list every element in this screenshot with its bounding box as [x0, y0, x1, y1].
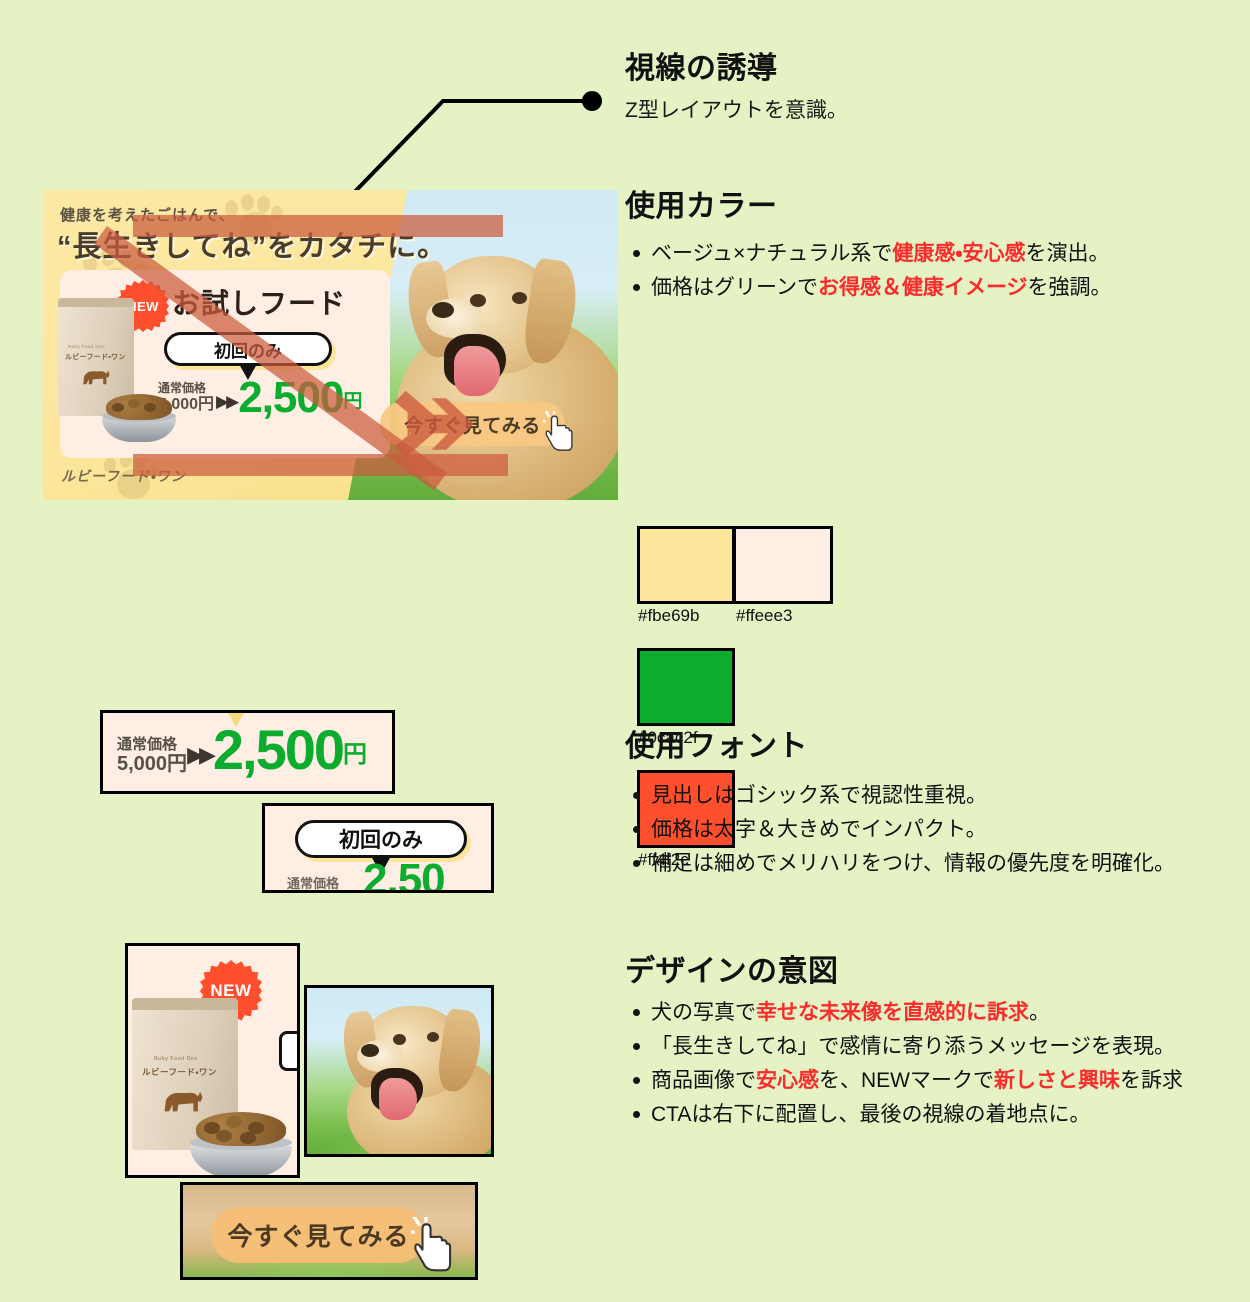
zoom-callout-price: 通常価格 5,000円 ▶▶ 2,500 円 [100, 710, 395, 794]
bag-label: ルビーフード・ワン [65, 352, 126, 362]
callout-clipped-price: 通常価格 2,50 [287, 868, 445, 892]
section-heading-gaze: 視線の誘導 [625, 52, 1225, 85]
pointer-cursor-icon [411, 1217, 457, 1273]
bag-label: ルビーフード・ワン [142, 1066, 217, 1078]
zoom-card-cta[interactable]: 今すぐ見てみる [180, 1182, 478, 1280]
section-intent: デザインの意図 犬の写真で幸せな未来像を直感的に訴求。 「長生きしてね」で感情に… [625, 955, 1250, 1132]
z-pattern-arrow-icon [391, 378, 483, 470]
callout-currency-yen: 円 [343, 734, 367, 775]
section-heading-colors: 使用カラー [625, 190, 1225, 223]
swatch-row-1: #fbe69b #ffeee3 [637, 526, 833, 626]
z-pattern-top-bar [133, 215, 503, 237]
list-item: 補足は細めでメリハリをつけ、情報の優先度を明確化。 [625, 847, 1225, 881]
page-root: 健康を考えたごはんで、 “長生きしてね”をカタチに。 NEW お試しフード 初回… [0, 0, 1250, 1302]
list-item: 「長生きしてね」で感情に寄り添うメッセージを表現。 [625, 1030, 1250, 1064]
list-item: 見出しはゴシック系で視認性重視。 [625, 779, 1225, 813]
cta-button[interactable]: 今すぐ見てみる [211, 1207, 426, 1263]
list-item: 犬の写真で幸せな未来像を直感的に訴求。 [625, 996, 1250, 1030]
zoom-callout-first-only: 初回のみ 通常価格 2,50 [262, 803, 494, 893]
pointer-cursor-icon [543, 411, 577, 452]
banner-offer-card: NEW お試しフード 初回のみ 通常価格 5,000円 ▶▶ 2,500 円 R… [60, 270, 390, 458]
section-gaze: 視線の誘導 Z型レイアウトを意識。 [625, 52, 1225, 125]
list-item: 商品画像で安心感を、NEWマークで新しさと興味を訴求 [625, 1064, 1250, 1098]
zoom-card-dog-photo [304, 985, 494, 1157]
arrow-right-icon: ▶▶ [214, 392, 238, 418]
section-fonts: 使用フォント 見出しはゴシック系で視認性重視。 価格は太字＆大きめでインパクト。… [625, 730, 1225, 881]
main-banner-ad[interactable]: 健康を考えたごはんで、 “長生きしてね”をカタチに。 NEW お試しフード 初回… [43, 190, 618, 500]
section-colors: 使用カラー ベージュ×ナチュラル系で健康感・安心感を演出。 価格はグリーンでお得… [625, 190, 1225, 305]
gaze-body: Z型レイアウトを意識。 [625, 97, 1225, 125]
list-item: CTAは右下に配置し、最後の視線の着地点に。 [625, 1098, 1250, 1132]
swatch-label: #ffeee3 [735, 606, 833, 626]
intent-bullet-list: 犬の写真で幸せな未来像を直感的に訴求。 「長生きしてね」で感情に寄り添うメッセー… [625, 996, 1250, 1132]
swatch-chip [735, 526, 833, 604]
food-bowl [190, 1098, 292, 1178]
section-heading-intent: デザインの意図 [625, 955, 1250, 988]
arrow-right-icon: ▶▶ [187, 742, 213, 775]
list-item: 価格はグリーンでお得感＆健康イメージを強調。 [625, 271, 1225, 305]
swatch-ffeee3: #ffeee3 [735, 526, 833, 626]
list-item: 価格は太字＆大きめでインパクト。 [625, 813, 1225, 847]
fonts-bullet-list: 見出しはゴシック系で視認性重視。 価格は太字＆大きめでインパクト。 補足は細めで… [625, 779, 1225, 881]
cta-label: 今すぐ見てみる [227, 1217, 409, 1253]
swatch-fbe69b: #fbe69b [637, 526, 735, 626]
first-only-pill-edge [279, 1031, 300, 1071]
callout-normal-price: 通常価格 5,000円 [117, 737, 187, 776]
callout-sale-price: 2,500 [213, 725, 343, 775]
swatch-chip [637, 648, 735, 726]
zoom-card-product: NEW Ruby Food One ルビーフード・ワン [125, 943, 300, 1178]
bag-sub: Ruby Food One [154, 1056, 198, 1062]
swatch-label: #fbe69b [637, 606, 735, 626]
first-only-pill: 初回のみ [295, 820, 467, 858]
swatch-chip [637, 526, 735, 604]
list-item: ベージュ×ナチュラル系で健康感・安心感を演出。 [625, 237, 1225, 271]
colors-bullet-list: ベージュ×ナチュラル系で健康感・安心感を演出。 価格はグリーンでお得感＆健康イメ… [625, 237, 1225, 305]
bag-sub: Ruby Food One [68, 344, 105, 349]
annotations-column: 視線の誘導 Z型レイアウトを意識。 使用カラー ベージュ×ナチュラル系で健康感・… [625, 0, 1250, 1302]
food-bowl [102, 384, 176, 442]
callout-price-row: 通常価格 5,000円 ▶▶ 2,500 円 [117, 725, 367, 775]
section-heading-fonts: 使用フォント [625, 730, 1225, 763]
